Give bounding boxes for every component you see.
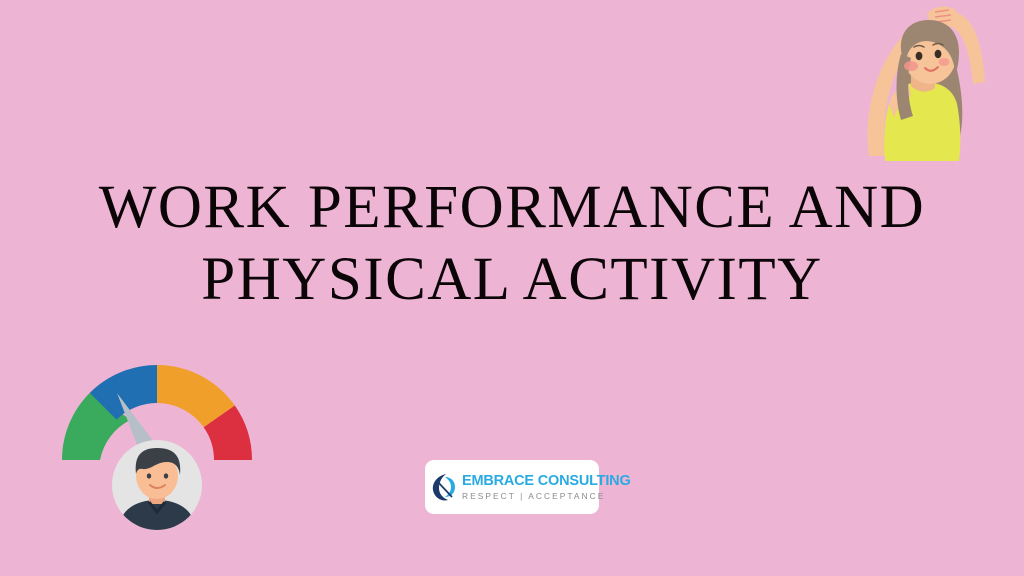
logo-text-group: EMBRACE CONSULTING RESPECT | ACCEPTANCE: [462, 474, 631, 501]
title-line-2: PHYSICAL ACTIVITY: [0, 244, 1024, 316]
figure-blush-left: [904, 61, 918, 71]
page-title: WORK PERFORMANCE AND PHYSICAL ACTIVITY: [0, 172, 1024, 316]
woman-stretching-illustration: [845, 0, 1010, 161]
slide-canvas: WORK PERFORMANCE AND PHYSICAL ACTIVITY: [0, 0, 1024, 576]
avatar-eye-right: [164, 473, 168, 478]
logo-tagline: RESPECT | ACCEPTANCE: [462, 492, 631, 500]
figure-blush-right: [939, 58, 950, 66]
embrace-logo-mark-icon: [432, 472, 459, 502]
avatar-eye-left: [147, 473, 151, 478]
logo-company-name: EMBRACE CONSULTING: [462, 474, 631, 489]
performance-gauge: [55, 352, 260, 542]
embrace-consulting-logo: EMBRACE CONSULTING RESPECT | ACCEPTANCE: [425, 460, 599, 514]
gauge-avatar: [112, 440, 202, 534]
figure-eye-left: [916, 52, 923, 60]
title-line-1: WORK PERFORMANCE AND: [0, 172, 1024, 244]
figure-eye-right: [935, 50, 942, 58]
